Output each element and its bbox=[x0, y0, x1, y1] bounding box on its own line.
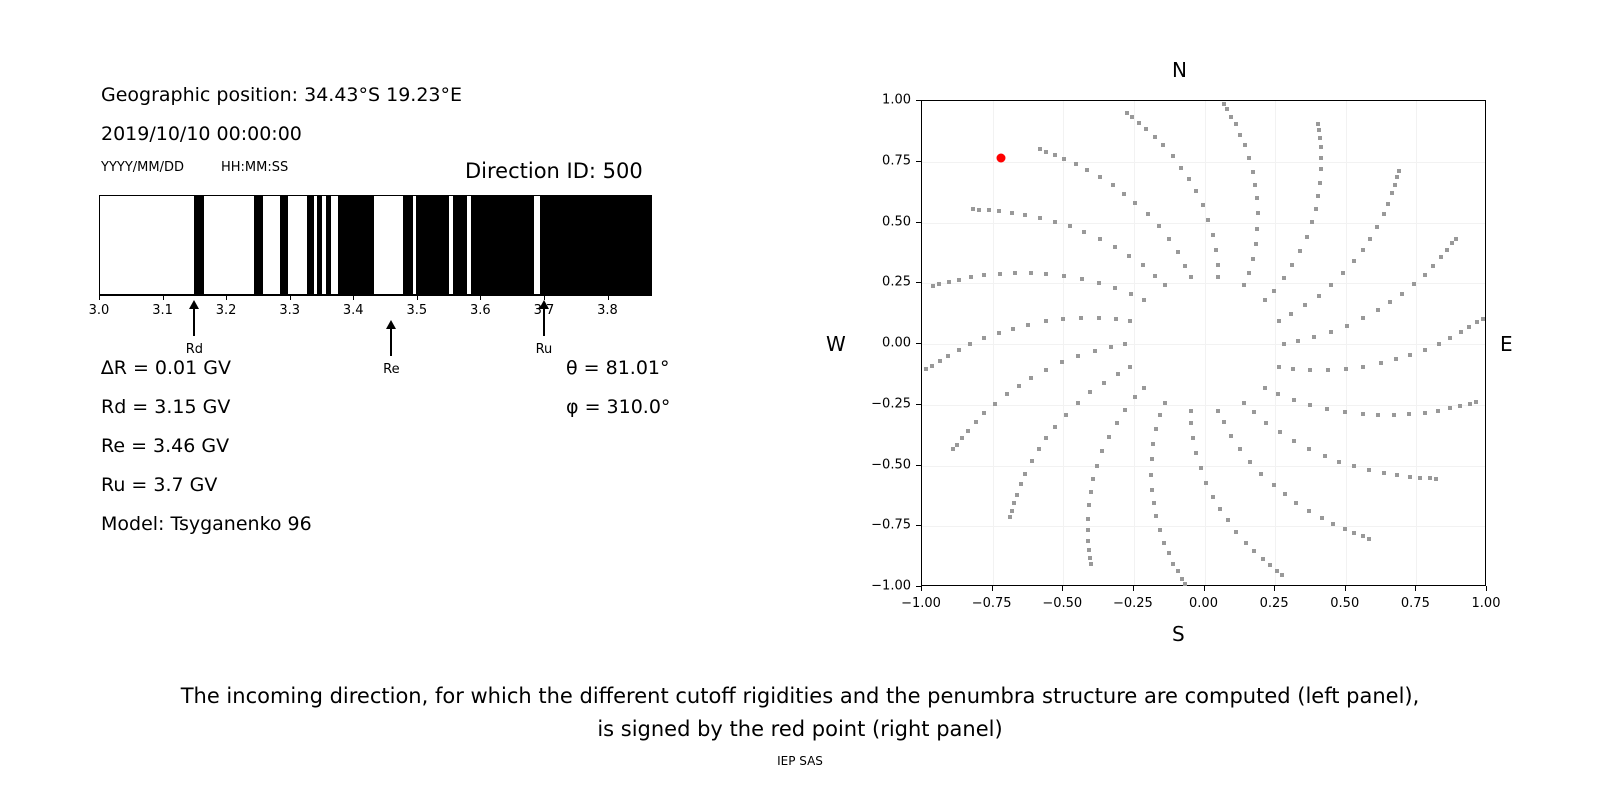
asymptotic-direction-point bbox=[1307, 447, 1311, 451]
scatter-plot-frame bbox=[921, 100, 1486, 586]
parameter-text: Ru = 3.7 GV bbox=[101, 474, 217, 496]
asymptotic-direction-point bbox=[1296, 339, 1300, 343]
asymptotic-direction-point bbox=[1481, 317, 1485, 321]
asymptotic-direction-point bbox=[1341, 271, 1345, 275]
asymptotic-direction-point bbox=[1008, 515, 1012, 519]
axis-tick bbox=[290, 295, 291, 300]
gridline-horizontal bbox=[922, 405, 1485, 406]
x-axis-tick bbox=[992, 586, 993, 591]
asymptotic-direction-point bbox=[1171, 154, 1175, 158]
asymptotic-direction-point bbox=[971, 207, 975, 211]
asymptotic-direction-point bbox=[1303, 303, 1307, 307]
asymptotic-direction-point bbox=[1450, 241, 1454, 245]
asymptotic-direction-point bbox=[1437, 342, 1441, 346]
asymptotic-direction-point bbox=[1226, 518, 1230, 522]
gridline-horizontal bbox=[922, 466, 1485, 467]
asymptotic-direction-point bbox=[1142, 298, 1146, 302]
compass-east-label: E bbox=[1500, 332, 1513, 356]
asymptotic-direction-point bbox=[1183, 264, 1187, 268]
x-axis-tick-label: 0.25 bbox=[1260, 596, 1289, 611]
asymptotic-direction-point bbox=[1123, 408, 1127, 412]
asymptotic-direction-point bbox=[1375, 225, 1379, 229]
asymptotic-direction-point bbox=[1256, 211, 1260, 215]
y-axis-tick bbox=[916, 100, 921, 101]
asymptotic-direction-point bbox=[1017, 384, 1021, 388]
asymptotic-direction-point bbox=[1388, 300, 1392, 304]
asymptotic-direction-point bbox=[1268, 563, 1272, 567]
asymptotic-direction-point bbox=[1204, 481, 1208, 485]
asymptotic-direction-point bbox=[1376, 308, 1380, 312]
x-axis-tick bbox=[1062, 586, 1063, 591]
x-axis-tick bbox=[1274, 586, 1275, 591]
asymptotic-direction-point bbox=[1087, 503, 1091, 507]
y-axis-tick bbox=[916, 465, 921, 466]
penumbra-axis bbox=[99, 295, 652, 305]
asymptotic-direction-point bbox=[1189, 409, 1193, 413]
angle-parameter-text: θ = 81.01° bbox=[566, 357, 670, 379]
footer-credit: IEP SAS bbox=[0, 754, 1600, 768]
asymptotic-direction-point bbox=[1128, 319, 1132, 323]
parameter-text: Rd = 3.15 GV bbox=[101, 396, 230, 418]
asymptotic-direction-point bbox=[1086, 517, 1090, 521]
asymptotic-direction-point bbox=[1163, 283, 1167, 287]
asymptotic-direction-point bbox=[1459, 330, 1463, 334]
asymptotic-direction-point bbox=[1123, 342, 1127, 346]
asymptotic-direction-point bbox=[1183, 582, 1187, 586]
penumbra-panel: Geographic position: 34.43°S 19.23°E 201… bbox=[0, 0, 800, 660]
asymptotic-direction-point bbox=[1343, 527, 1347, 531]
asymptotic-direction-point bbox=[1187, 177, 1191, 181]
asymptotic-direction-point bbox=[1252, 549, 1256, 553]
gridline-vertical bbox=[1416, 101, 1417, 585]
arrow-shaft bbox=[193, 306, 195, 336]
asymptotic-direction-point bbox=[946, 354, 950, 358]
asymptotic-direction-point bbox=[1225, 107, 1229, 111]
axis-tick bbox=[226, 295, 227, 300]
asymptotic-direction-point bbox=[1087, 548, 1091, 552]
asymptotic-direction-point bbox=[1423, 273, 1427, 277]
asymptotic-direction-point bbox=[1211, 233, 1215, 237]
asymptotic-direction-point bbox=[1030, 459, 1034, 463]
asymptotic-direction-point bbox=[1318, 136, 1322, 140]
gridline-vertical bbox=[1346, 101, 1347, 585]
asymptotic-direction-point bbox=[1436, 409, 1440, 413]
axis-tick-label: 3.1 bbox=[152, 303, 173, 318]
asymptotic-direction-point bbox=[1247, 156, 1251, 160]
y-axis-tick-label: −0.75 bbox=[849, 518, 911, 533]
gridline-horizontal bbox=[922, 162, 1485, 163]
asymptotic-direction-point bbox=[1189, 421, 1193, 425]
asymptotic-direction-point bbox=[1064, 413, 1068, 417]
asymptotic-direction-point bbox=[1312, 335, 1316, 339]
asymptotic-direction-point bbox=[1317, 128, 1321, 132]
asymptotic-direction-point bbox=[960, 436, 964, 440]
asymptotic-direction-point bbox=[1146, 212, 1150, 216]
asymptotic-direction-point bbox=[1100, 449, 1104, 453]
asymptotic-direction-point bbox=[1423, 411, 1427, 415]
direction-map-panel: N S W E −1.00−0.75−0.50−0.250.000.250.50… bbox=[800, 0, 1600, 660]
asymptotic-direction-point bbox=[1102, 381, 1106, 385]
x-axis-tick-label: −0.75 bbox=[972, 596, 1012, 611]
asymptotic-direction-point bbox=[1191, 436, 1195, 440]
asymptotic-direction-point bbox=[1439, 255, 1443, 259]
asymptotic-direction-point bbox=[1061, 317, 1065, 321]
penumbra-bar-wrapper bbox=[99, 195, 652, 295]
y-axis-tick-label: 1.00 bbox=[849, 93, 911, 108]
axis-tick-label: 3.3 bbox=[279, 303, 300, 318]
penumbra-forbidden-band bbox=[254, 196, 262, 294]
y-axis-tick-label: 0.75 bbox=[849, 153, 911, 168]
axis-tick bbox=[163, 295, 164, 300]
asymptotic-direction-point bbox=[1448, 406, 1452, 410]
asymptotic-direction-point bbox=[1229, 115, 1233, 119]
asymptotic-direction-point bbox=[1238, 447, 1242, 451]
asymptotic-direction-point bbox=[1091, 477, 1095, 481]
asymptotic-direction-point bbox=[1275, 569, 1279, 573]
y-axis-tick bbox=[916, 161, 921, 162]
asymptotic-direction-point bbox=[1428, 476, 1432, 480]
asymptotic-direction-point bbox=[1189, 275, 1193, 279]
asymptotic-direction-point bbox=[1062, 274, 1066, 278]
asymptotic-direction-point bbox=[1013, 271, 1017, 275]
penumbra-forbidden-band bbox=[326, 196, 330, 294]
asymptotic-direction-point bbox=[1329, 330, 1333, 334]
asymptotic-direction-point bbox=[1272, 289, 1276, 293]
asymptotic-direction-point bbox=[1326, 368, 1330, 372]
asymptotic-direction-point bbox=[1314, 207, 1318, 211]
asymptotic-direction-point bbox=[1095, 464, 1099, 468]
asymptotic-direction-point bbox=[1141, 263, 1145, 267]
x-axis-tick bbox=[1486, 586, 1487, 591]
asymptotic-direction-point bbox=[1082, 230, 1086, 234]
asymptotic-direction-point bbox=[1291, 367, 1295, 371]
asymptotic-direction-point bbox=[1074, 162, 1078, 166]
asymptotic-direction-point bbox=[1060, 360, 1064, 364]
asymptotic-direction-point bbox=[1343, 410, 1347, 414]
asymptotic-direction-point bbox=[1194, 189, 1198, 193]
asymptotic-direction-point bbox=[1392, 413, 1396, 417]
asymptotic-direction-point bbox=[1097, 316, 1101, 320]
asymptotic-direction-point bbox=[1113, 245, 1117, 249]
asymptotic-direction-point bbox=[1153, 135, 1157, 139]
asymptotic-direction-point bbox=[1062, 157, 1066, 161]
asymptotic-direction-point bbox=[957, 348, 961, 352]
arrow-shaft bbox=[390, 326, 392, 356]
asymptotic-direction-point bbox=[1361, 248, 1365, 252]
asymptotic-direction-point bbox=[1053, 220, 1057, 224]
asymptotic-direction-point bbox=[1026, 323, 1030, 327]
penumbra-forbidden-band bbox=[453, 196, 467, 294]
asymptotic-direction-point bbox=[1242, 283, 1246, 287]
asymptotic-direction-point bbox=[1127, 254, 1131, 258]
asymptotic-direction-point bbox=[1137, 121, 1141, 125]
asymptotic-direction-point bbox=[1431, 264, 1435, 268]
asymptotic-direction-point bbox=[1423, 348, 1427, 352]
asymptotic-direction-point bbox=[1289, 312, 1293, 316]
asymptotic-direction-point bbox=[1162, 541, 1166, 545]
x-axis-tick-label: 1.00 bbox=[1472, 596, 1501, 611]
asymptotic-direction-point bbox=[1310, 220, 1314, 224]
asymptotic-direction-point bbox=[1255, 196, 1259, 200]
asymptotic-direction-point bbox=[1079, 316, 1083, 320]
asymptotic-direction-point bbox=[1194, 451, 1198, 455]
asymptotic-direction-point bbox=[1125, 111, 1129, 115]
asymptotic-direction-point bbox=[1211, 495, 1215, 499]
asymptotic-direction-point bbox=[1080, 277, 1084, 281]
x-axis-tick-label: 0.00 bbox=[1189, 596, 1218, 611]
rigidity-marker-label: Re bbox=[383, 362, 399, 377]
asymptotic-direction-point bbox=[1154, 427, 1158, 431]
axis-tick bbox=[417, 295, 418, 300]
asymptotic-direction-point bbox=[1407, 412, 1411, 416]
asymptotic-direction-point bbox=[1085, 168, 1089, 172]
axis-tick-label: 3.4 bbox=[343, 303, 364, 318]
asymptotic-direction-point bbox=[1116, 372, 1120, 376]
axis-tick-label: 3.5 bbox=[406, 303, 427, 318]
asymptotic-direction-point bbox=[1023, 472, 1027, 476]
asymptotic-direction-point bbox=[1222, 102, 1226, 106]
selected-direction-point[interactable] bbox=[997, 154, 1006, 163]
asymptotic-direction-point bbox=[1044, 150, 1048, 154]
asymptotic-direction-point bbox=[1011, 327, 1015, 331]
axis-tick-label: 3.2 bbox=[216, 303, 237, 318]
y-axis-tick bbox=[916, 525, 921, 526]
axis-tick-label: 3.0 bbox=[89, 303, 110, 318]
asymptotic-direction-point bbox=[1458, 404, 1462, 408]
asymptotic-direction-point bbox=[1319, 145, 1323, 149]
asymptotic-direction-point bbox=[1345, 324, 1349, 328]
asymptotic-direction-point bbox=[1390, 191, 1394, 195]
asymptotic-direction-point bbox=[1382, 212, 1386, 216]
asymptotic-direction-point bbox=[1305, 235, 1309, 239]
geographic-position-label: Geographic position: 34.43°S 19.23°E bbox=[101, 84, 462, 106]
asymptotic-direction-point bbox=[1180, 577, 1184, 581]
asymptotic-direction-point bbox=[1329, 283, 1333, 287]
asymptotic-direction-point bbox=[1467, 325, 1471, 329]
asymptotic-direction-point bbox=[1253, 183, 1257, 187]
asymptotic-direction-point bbox=[1222, 420, 1226, 424]
asymptotic-direction-point bbox=[1320, 516, 1324, 520]
asymptotic-direction-point bbox=[1337, 460, 1341, 464]
asymptotic-direction-point bbox=[1151, 442, 1155, 446]
asymptotic-direction-point bbox=[1247, 271, 1251, 275]
gridline-vertical bbox=[1063, 101, 1064, 585]
asymptotic-direction-point bbox=[1206, 218, 1210, 222]
asymptotic-direction-point bbox=[1144, 127, 1148, 131]
asymptotic-direction-point bbox=[1344, 367, 1348, 371]
axis-tick-label: 3.6 bbox=[470, 303, 491, 318]
compass-north-label: N bbox=[1172, 58, 1187, 82]
y-axis-tick-label: 0.00 bbox=[849, 336, 911, 351]
asymptotic-direction-point bbox=[1149, 473, 1153, 477]
asymptotic-direction-point bbox=[1395, 175, 1399, 179]
asymptotic-direction-point bbox=[1277, 319, 1281, 323]
asymptotic-direction-point bbox=[1130, 115, 1134, 119]
asymptotic-direction-point bbox=[1280, 573, 1284, 577]
asymptotic-direction-point bbox=[1154, 514, 1158, 518]
asymptotic-direction-point bbox=[993, 402, 997, 406]
arrow-shaft bbox=[543, 306, 545, 336]
asymptotic-direction-point bbox=[1076, 401, 1080, 405]
asymptotic-direction-point bbox=[1412, 282, 1416, 286]
gridline-vertical bbox=[993, 101, 994, 585]
asymptotic-direction-point bbox=[1214, 248, 1218, 252]
axis-tick bbox=[99, 295, 100, 300]
asymptotic-direction-point bbox=[1053, 153, 1057, 157]
asymptotic-direction-point bbox=[1331, 522, 1335, 526]
asymptotic-direction-point bbox=[930, 364, 934, 368]
parameter-text: Re = 3.46 GV bbox=[101, 435, 229, 457]
asymptotic-direction-point bbox=[969, 275, 973, 279]
asymptotic-direction-point bbox=[1278, 430, 1282, 434]
asymptotic-direction-point bbox=[982, 411, 986, 415]
caption-line-2: is signed by the red point (right panel) bbox=[0, 713, 1600, 746]
asymptotic-direction-point bbox=[1318, 181, 1322, 185]
penumbra-forbidden-band bbox=[307, 196, 315, 294]
asymptotic-direction-point bbox=[1263, 386, 1267, 390]
asymptotic-direction-point bbox=[1044, 436, 1048, 440]
asymptotic-direction-point bbox=[1012, 501, 1016, 505]
asymptotic-direction-point bbox=[1088, 390, 1092, 394]
asymptotic-direction-point bbox=[1408, 353, 1412, 357]
asymptotic-direction-point bbox=[1368, 237, 1372, 241]
asymptotic-direction-point bbox=[1218, 507, 1222, 511]
asymptotic-direction-point bbox=[1109, 345, 1113, 349]
asymptotic-direction-point bbox=[1418, 476, 1422, 480]
asymptotic-direction-point bbox=[1098, 237, 1102, 241]
y-axis-tick bbox=[916, 343, 921, 344]
asymptotic-direction-point bbox=[1044, 272, 1048, 276]
asymptotic-direction-point bbox=[1361, 534, 1365, 538]
asymptotic-direction-point bbox=[1113, 286, 1117, 290]
penumbra-forbidden-band bbox=[194, 196, 204, 294]
y-axis-tick-label: −1.00 bbox=[849, 579, 911, 594]
asymptotic-direction-point bbox=[1086, 528, 1090, 532]
asymptotic-direction-point bbox=[1153, 274, 1157, 278]
parameter-text: ∆R = 0.01 GV bbox=[101, 357, 231, 379]
asymptotic-direction-point bbox=[1093, 349, 1097, 353]
asymptotic-direction-point bbox=[924, 367, 928, 371]
asymptotic-direction-point bbox=[977, 208, 981, 212]
time-format-hint: HH:MM:SS bbox=[221, 160, 288, 175]
date-format-hint: YYYY/MM/DD bbox=[101, 160, 184, 175]
asymptotic-direction-point bbox=[1283, 492, 1287, 496]
asymptotic-direction-point bbox=[1408, 475, 1412, 479]
asymptotic-direction-point bbox=[1255, 227, 1259, 231]
asymptotic-direction-point bbox=[1005, 392, 1009, 396]
asymptotic-direction-point bbox=[1282, 276, 1286, 280]
asymptotic-direction-point bbox=[1244, 541, 1248, 545]
y-axis-tick bbox=[916, 282, 921, 283]
x-axis-tick bbox=[1204, 586, 1205, 591]
datetime-label: 2019/10/10 00:00:00 bbox=[101, 123, 302, 145]
asymptotic-direction-point bbox=[1352, 531, 1356, 535]
asymptotic-direction-point bbox=[1238, 133, 1242, 137]
asymptotic-direction-point bbox=[1395, 473, 1399, 477]
asymptotic-direction-point bbox=[1254, 242, 1258, 246]
asymptotic-direction-point bbox=[1044, 368, 1048, 372]
asymptotic-direction-point bbox=[1361, 365, 1365, 369]
asymptotic-direction-point bbox=[1167, 237, 1171, 241]
asymptotic-direction-point bbox=[1361, 316, 1365, 320]
asymptotic-direction-point bbox=[1128, 365, 1132, 369]
asymptotic-direction-point bbox=[1171, 562, 1175, 566]
asymptotic-direction-point bbox=[1176, 250, 1180, 254]
asymptotic-direction-point bbox=[1325, 407, 1329, 411]
asymptotic-direction-point bbox=[997, 331, 1001, 335]
asymptotic-direction-point bbox=[1157, 224, 1161, 228]
asymptotic-direction-point bbox=[1294, 501, 1298, 505]
asymptotic-direction-point bbox=[998, 272, 1002, 276]
x-axis-tick-label: −1.00 bbox=[901, 596, 941, 611]
asymptotic-direction-point bbox=[1382, 471, 1386, 475]
scatter-plot-area bbox=[922, 101, 1485, 585]
y-axis-tick bbox=[916, 404, 921, 405]
axis-tick bbox=[608, 295, 609, 300]
asymptotic-direction-point bbox=[1111, 183, 1115, 187]
asymptotic-direction-point bbox=[1098, 175, 1102, 179]
asymptotic-direction-point bbox=[1097, 281, 1101, 285]
asymptotic-direction-point bbox=[1367, 537, 1371, 541]
asymptotic-direction-point bbox=[1292, 439, 1296, 443]
asymptotic-direction-point bbox=[955, 443, 959, 447]
asymptotic-direction-point bbox=[1397, 169, 1401, 173]
asymptotic-direction-point bbox=[1308, 403, 1312, 407]
asymptotic-direction-point bbox=[938, 359, 942, 363]
penumbra-forbidden-band bbox=[416, 196, 449, 294]
asymptotic-direction-point bbox=[951, 447, 955, 451]
penumbra-forbidden-band bbox=[540, 196, 652, 294]
asymptotic-direction-point bbox=[1319, 167, 1323, 171]
asymptotic-direction-point bbox=[974, 420, 978, 424]
asymptotic-direction-point bbox=[1167, 551, 1171, 555]
asymptotic-direction-point bbox=[1129, 292, 1133, 296]
compass-west-label: W bbox=[826, 332, 846, 356]
asymptotic-direction-point bbox=[1216, 275, 1220, 279]
asymptotic-direction-point bbox=[1015, 493, 1019, 497]
asymptotic-direction-point bbox=[982, 336, 986, 340]
x-axis-tick-label: −0.25 bbox=[1113, 596, 1153, 611]
asymptotic-direction-point bbox=[1107, 435, 1111, 439]
asymptotic-direction-point bbox=[947, 280, 951, 284]
asymptotic-direction-point bbox=[1163, 401, 1167, 405]
asymptotic-direction-point bbox=[1379, 361, 1383, 365]
asymptotic-direction-point bbox=[1176, 569, 1180, 573]
asymptotic-direction-point bbox=[1038, 216, 1042, 220]
asymptotic-direction-point bbox=[1298, 249, 1302, 253]
angle-parameter-text: φ = 310.0° bbox=[566, 396, 670, 418]
asymptotic-direction-point bbox=[1316, 194, 1320, 198]
asymptotic-direction-point bbox=[1216, 263, 1220, 267]
gridline-horizontal bbox=[922, 526, 1485, 527]
asymptotic-direction-point bbox=[1468, 402, 1472, 406]
asymptotic-direction-point bbox=[1010, 509, 1014, 513]
asymptotic-direction-point bbox=[1386, 202, 1390, 206]
x-axis-tick bbox=[1133, 586, 1134, 591]
asymptotic-direction-point bbox=[1282, 342, 1286, 346]
asymptotic-direction-point bbox=[1019, 482, 1023, 486]
asymptotic-direction-point bbox=[1089, 562, 1093, 566]
asymptotic-direction-point bbox=[957, 278, 961, 282]
asymptotic-direction-point bbox=[1029, 376, 1033, 380]
gridline-vertical bbox=[1275, 101, 1276, 585]
asymptotic-direction-point bbox=[1243, 143, 1247, 147]
y-axis-tick bbox=[916, 222, 921, 223]
penumbra-bar bbox=[99, 195, 652, 295]
parameter-text: Model: Tsyganenko 96 bbox=[101, 513, 312, 535]
asymptotic-direction-point bbox=[1445, 248, 1449, 252]
asymptotic-direction-point bbox=[1263, 298, 1267, 302]
